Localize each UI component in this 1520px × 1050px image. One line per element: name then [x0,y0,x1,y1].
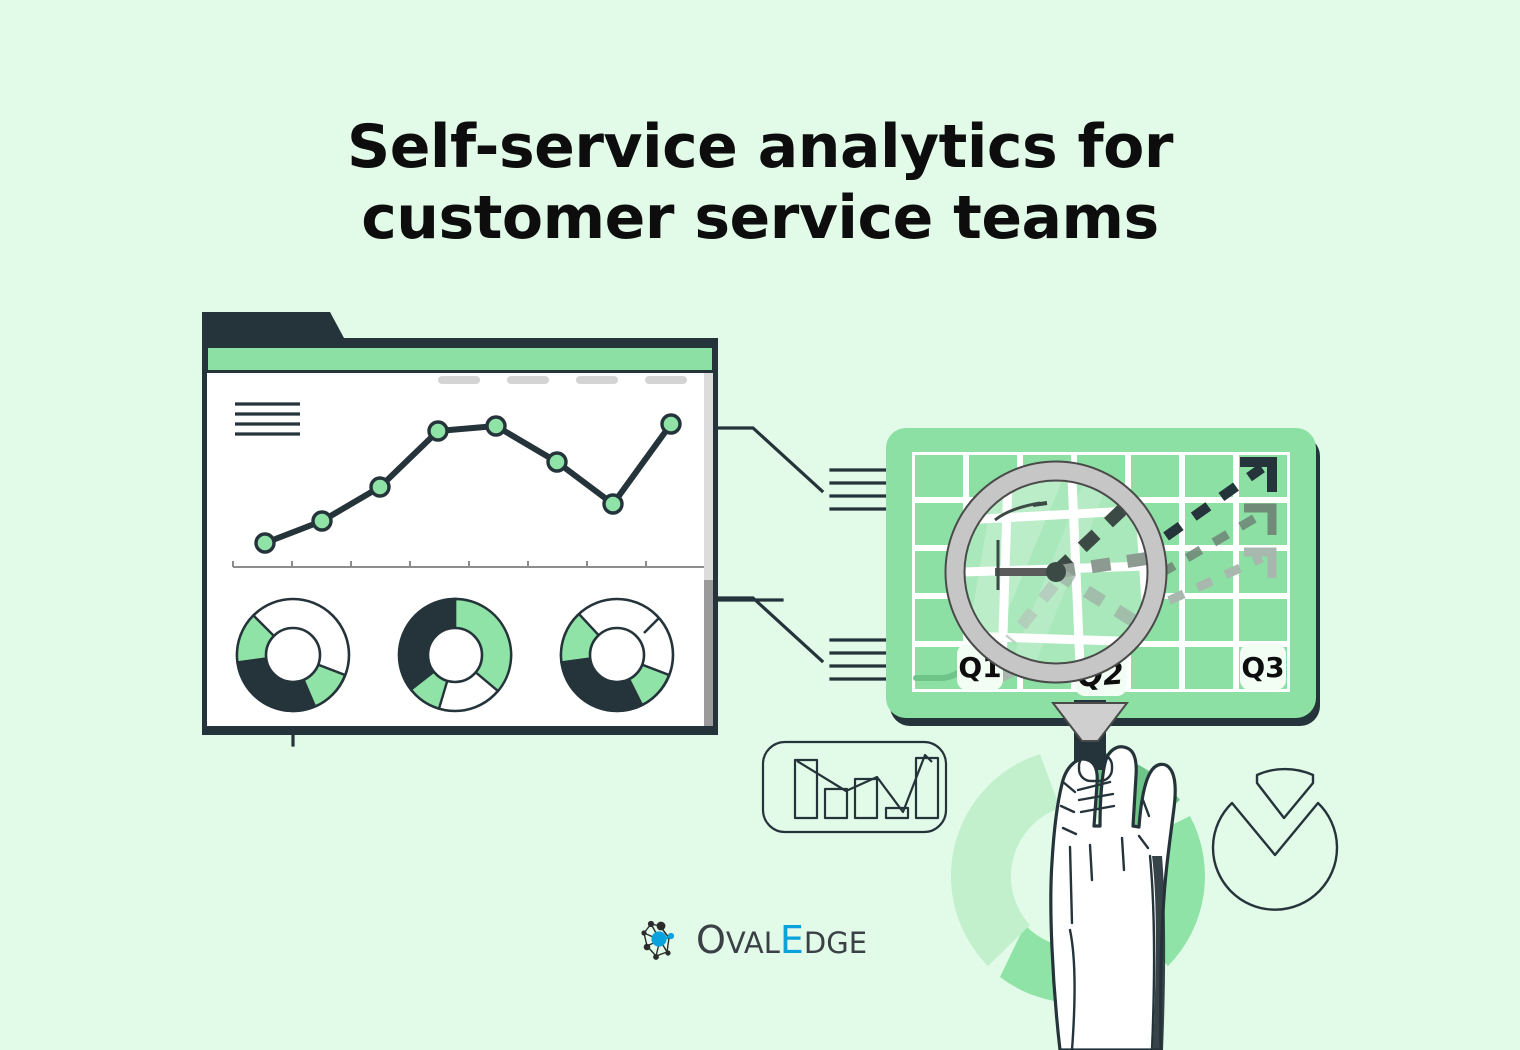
mini-bar-chart-icon[interactable] [763,742,946,832]
dashboard-scrollbar[interactable] [704,373,713,726]
hand-holding-magnifier [1051,747,1175,1050]
connector-line-group-bottom [831,640,886,679]
ovaledge-network-mark [636,916,684,964]
donut-chart-2[interactable] [399,599,511,711]
scrollbar-thumb[interactable] [704,580,713,726]
analytics-dashboard-card[interactable] [202,312,718,735]
donut-chart-1[interactable] [237,599,349,711]
connector-line-group-top [831,470,886,509]
wordmark-val: VAL [726,926,780,960]
analytics-illustration: Q1 Q2 Q3 [0,0,1520,1050]
illustration-canvas: Self-service analytics for customer serv… [0,0,1520,1050]
wordmark-e: E [780,918,804,962]
brand-wordmark: OVALEDGE [696,918,867,962]
brand-logo[interactable]: OVALEDGE [636,912,896,968]
quarter-label-q3-text: Q3 [1241,651,1284,684]
donut-chart-3[interactable] [561,599,673,711]
quarter-label-q3[interactable]: Q3 [1240,644,1286,690]
dashboard-accent-strip [208,348,712,370]
wordmark-dge: DGE [804,926,867,960]
wordmark-o: O [696,918,726,962]
exploded-pie-icon [1213,769,1337,910]
